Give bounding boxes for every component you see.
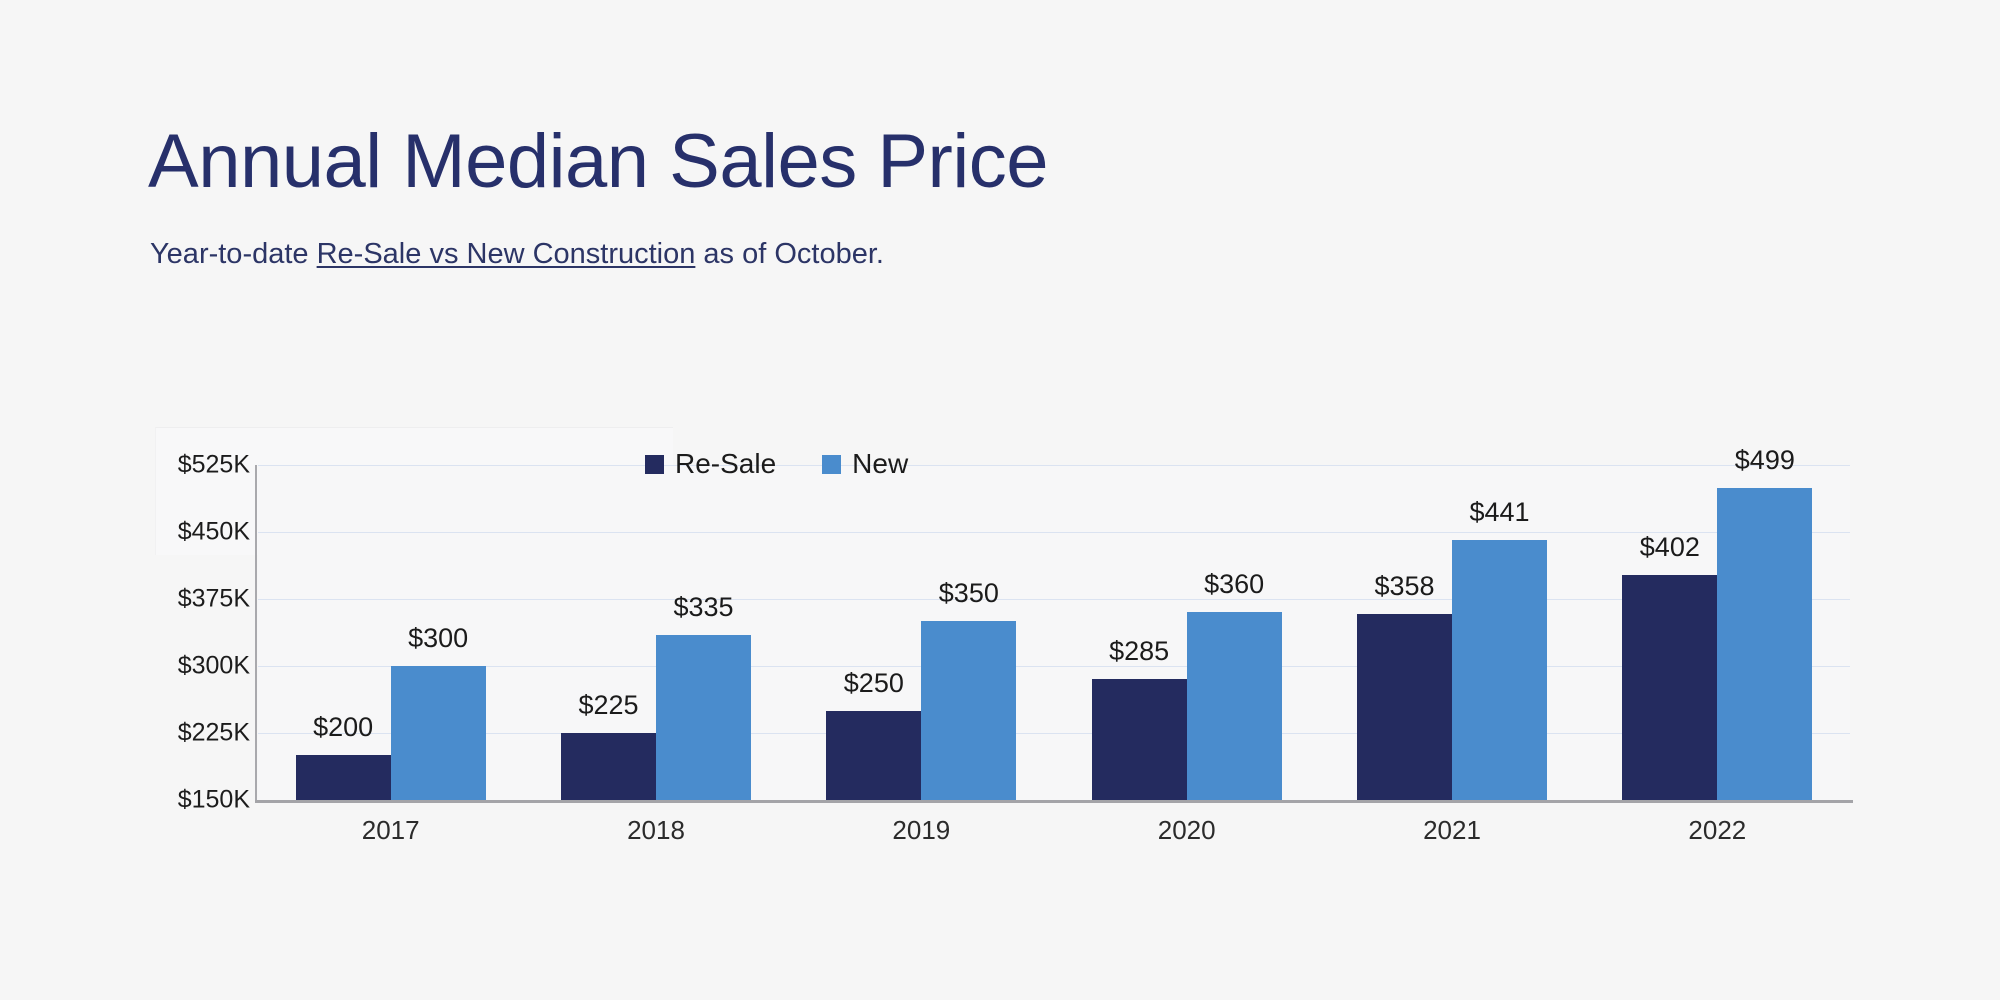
bar-re-sale-2022[interactable] <box>1622 575 1717 800</box>
gridline <box>258 599 1850 600</box>
bar-value-label: $300 <box>358 625 518 652</box>
square-marker-icon <box>645 455 664 474</box>
bar-group <box>561 465 751 800</box>
bar-value-label: $499 <box>1685 447 1845 474</box>
y-axis-tick-label: $225K <box>120 721 250 746</box>
bar-group <box>1092 465 1282 800</box>
page-title: Annual Median Sales Price <box>148 124 1048 200</box>
y-axis-tick-label: $300K <box>120 654 250 679</box>
y-axis-tick-label: $450K <box>120 520 250 545</box>
y-axis-line <box>255 465 257 800</box>
bar-value-label: $358 <box>1325 573 1485 600</box>
x-axis-tick-label-2021: 2021 <box>1352 817 1552 843</box>
bar-value-label: $350 <box>889 580 1049 607</box>
gridline <box>258 465 1850 466</box>
page-subtitle: Year-to-date Re-Sale vs New Construction… <box>150 240 884 269</box>
y-axis-tick-labels: $525K$450K$375K$300K$225K$150K <box>110 465 250 800</box>
bar-re-sale-2018[interactable] <box>561 733 656 800</box>
subtitle-link[interactable]: Re-Sale vs New Construction <box>317 238 696 270</box>
legend-item-re-sale[interactable]: Re-Sale <box>645 450 776 478</box>
bar-value-label: $441 <box>1420 499 1580 526</box>
bar-re-sale-2021[interactable] <box>1357 614 1452 800</box>
bar-value-label: $225 <box>529 692 689 719</box>
legend-item-new[interactable]: New <box>822 450 908 478</box>
gridline <box>258 666 1850 667</box>
square-marker-icon <box>822 455 841 474</box>
bar-value-label: $402 <box>1590 534 1750 561</box>
x-axis-line <box>255 800 1853 803</box>
x-axis-tick-label-2020: 2020 <box>1087 817 1287 843</box>
gridline <box>258 733 1850 734</box>
y-axis-tick-label: $375K <box>120 587 250 612</box>
legend-label: New <box>852 450 908 478</box>
x-axis-tick-label-2019: 2019 <box>821 817 1021 843</box>
bar-re-sale-2020[interactable] <box>1092 679 1187 800</box>
plot-area: $200$300$225$335$250$350$285$360$358$441… <box>258 465 1850 800</box>
bar-value-label: $250 <box>794 670 954 697</box>
bar-group <box>826 465 1016 800</box>
subtitle-suffix: as of October. <box>695 238 884 270</box>
bar-value-label: $335 <box>624 594 784 621</box>
bar-value-label: $200 <box>263 714 423 741</box>
bar-re-sale-2017[interactable] <box>296 755 391 800</box>
chart-page: Annual Median Sales Price Year-to-date R… <box>0 0 2000 1000</box>
y-axis-tick-label: $150K <box>120 788 250 813</box>
bar-chart: $525K$450K$375K$300K$225K$150K $200$300$… <box>0 400 2000 880</box>
bar-re-sale-2019[interactable] <box>826 711 921 800</box>
subtitle-prefix: Year-to-date <box>150 238 317 270</box>
chart-legend: Re-SaleNew <box>645 450 908 478</box>
bar-value-label: $285 <box>1059 638 1219 665</box>
bar-group <box>1622 465 1812 800</box>
x-axis-tick-label-2018: 2018 <box>556 817 756 843</box>
x-axis-tick-label-2022: 2022 <box>1617 817 1817 843</box>
x-axis-tick-label-2017: 2017 <box>291 817 491 843</box>
y-axis-tick-label: $525K <box>120 453 250 478</box>
bar-new-2019[interactable] <box>921 621 1016 800</box>
bar-value-label: $360 <box>1154 571 1314 598</box>
legend-label: Re-Sale <box>675 450 776 478</box>
gridline <box>258 532 1850 533</box>
